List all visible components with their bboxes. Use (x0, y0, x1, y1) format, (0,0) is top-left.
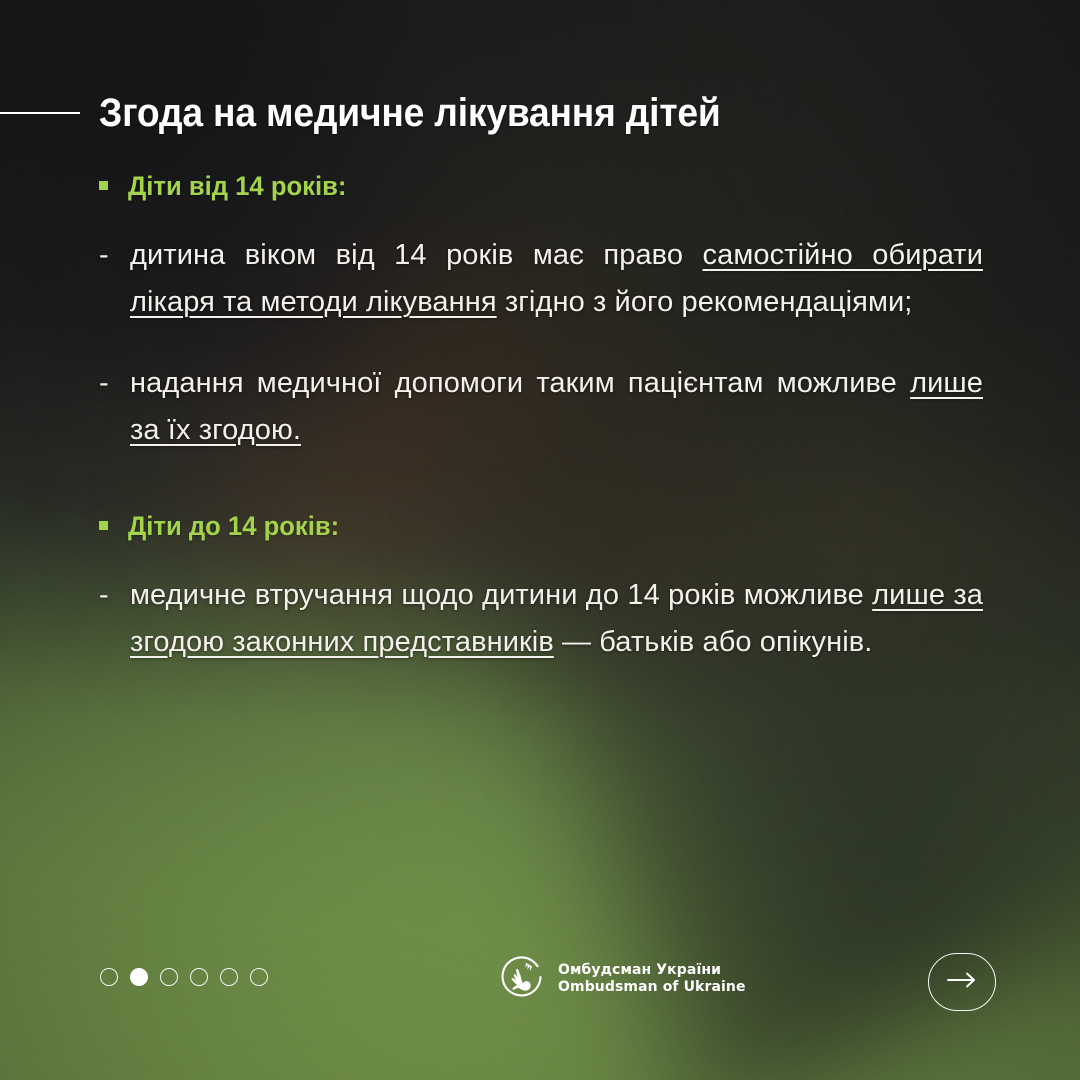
text-run: згідно з його рекомендаціями; (497, 286, 913, 318)
logo-line-uk: Омбудсман України (558, 962, 746, 979)
ombudsman-logo: Омбудсман України Ombudsman of Ukraine (497, 954, 746, 1004)
paragraph-text: медичне втручання щодо дитини до 14 рокі… (130, 572, 983, 666)
square-bullet-icon (99, 521, 108, 530)
circle-icon[interactable] (100, 968, 118, 986)
text-run: — батьків або опікунів. (554, 626, 873, 658)
dash-marker: - (99, 232, 130, 326)
pagination-dots[interactable] (100, 968, 268, 986)
paragraph-text: надання медичної допомоги таким пацієнта… (130, 360, 983, 454)
page-title: Згода на медичне лікування дітей (99, 90, 721, 136)
paragraph-item: - надання медичної допомоги таким пацієн… (99, 360, 983, 454)
circle-icon[interactable] (160, 968, 178, 986)
paragraph-item: - дитина віком від 14 років має право са… (99, 232, 983, 326)
body-content: Діти від 14 років: - дитина віком від 14… (99, 170, 983, 666)
ombudsman-logo-text: Омбудсман України Ombudsman of Ukraine (558, 962, 746, 996)
text-run: надання медичної допомоги таким пацієнта… (130, 367, 910, 399)
paragraph-text: дитина віком від 14 років має право само… (130, 232, 983, 326)
section-heading-label: Діти від 14 років: (128, 170, 346, 202)
arrow-right-icon (945, 971, 979, 994)
slide-root: Згода на медичне лікування дітей Діти ві… (0, 0, 1080, 1080)
text-run: дитина віком від 14 років має право (130, 239, 703, 271)
paragraph-item: - медичне втручання щодо дитини до 14 ро… (99, 572, 983, 666)
dash-marker: - (99, 360, 130, 454)
section-heading-children-from-14: Діти від 14 років: (99, 170, 983, 202)
next-slide-button[interactable] (928, 953, 996, 1011)
ombudsman-hand-trident-icon (497, 954, 547, 1004)
circle-filled-icon[interactable] (130, 968, 148, 986)
circle-icon[interactable] (250, 968, 268, 986)
text-run: медичне втручання щодо дитини до 14 рокі… (130, 579, 872, 611)
section-heading-label: Діти до 14 років: (128, 510, 339, 542)
circle-icon[interactable] (220, 968, 238, 986)
slide-content: Згода на медичне лікування дітей Діти ві… (0, 0, 1080, 1080)
square-bullet-icon (99, 181, 108, 190)
logo-line-en: Ombudsman of Ukraine (558, 979, 746, 996)
circle-icon[interactable] (190, 968, 208, 986)
title-accent-rule (0, 112, 80, 114)
section-heading-children-under-14: Діти до 14 років: (99, 510, 983, 542)
dash-marker: - (99, 572, 130, 666)
slide-footer: Омбудсман України Ombudsman of Ukraine (0, 954, 1080, 1012)
